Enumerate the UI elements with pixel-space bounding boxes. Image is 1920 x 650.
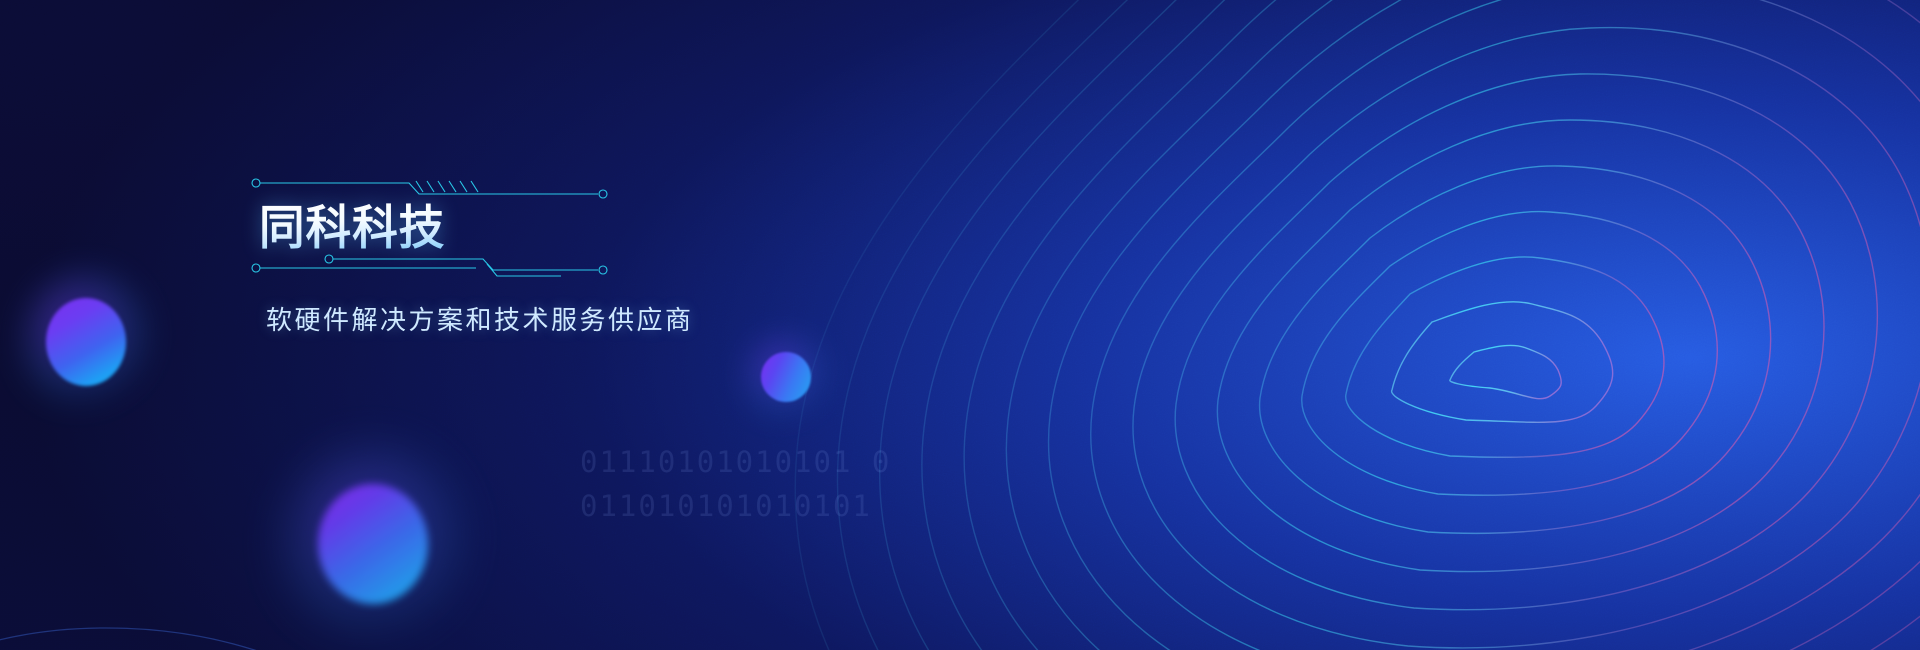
deco-circle-bottom-right bbox=[599, 266, 607, 274]
gradient-orb-center bbox=[761, 352, 811, 402]
brand-subtitle: 软硬件解决方案和技术服务供应商 bbox=[266, 304, 694, 338]
hero-banner: 01110101010101 0 011010101010101 bbox=[0, 0, 1920, 650]
binary-line-1: 01110101010101 0 bbox=[580, 440, 1000, 484]
deco-circle-bottom-left bbox=[252, 264, 260, 272]
gradient-orb-left bbox=[46, 298, 126, 386]
company-logo-text: 同科科技 bbox=[259, 200, 608, 258]
logo-wrapper: 同科科技 bbox=[259, 200, 619, 258]
orb-core bbox=[761, 352, 811, 402]
orb-core bbox=[46, 298, 126, 386]
deco-circle-top-left bbox=[252, 179, 260, 187]
decorative-line-top bbox=[251, 178, 611, 200]
decorative-line-bottom bbox=[251, 254, 611, 282]
deco-circle-bottom-mid bbox=[325, 255, 333, 263]
orb-core bbox=[318, 484, 428, 604]
binary-digits-decoration: 01110101010101 0 011010101010101 bbox=[580, 440, 1000, 528]
binary-line-2: 011010101010101 bbox=[580, 484, 1000, 528]
deco-circle-top-right bbox=[599, 190, 607, 198]
gradient-orb-bottom bbox=[318, 484, 428, 604]
contour-rings-right bbox=[690, 0, 1920, 650]
